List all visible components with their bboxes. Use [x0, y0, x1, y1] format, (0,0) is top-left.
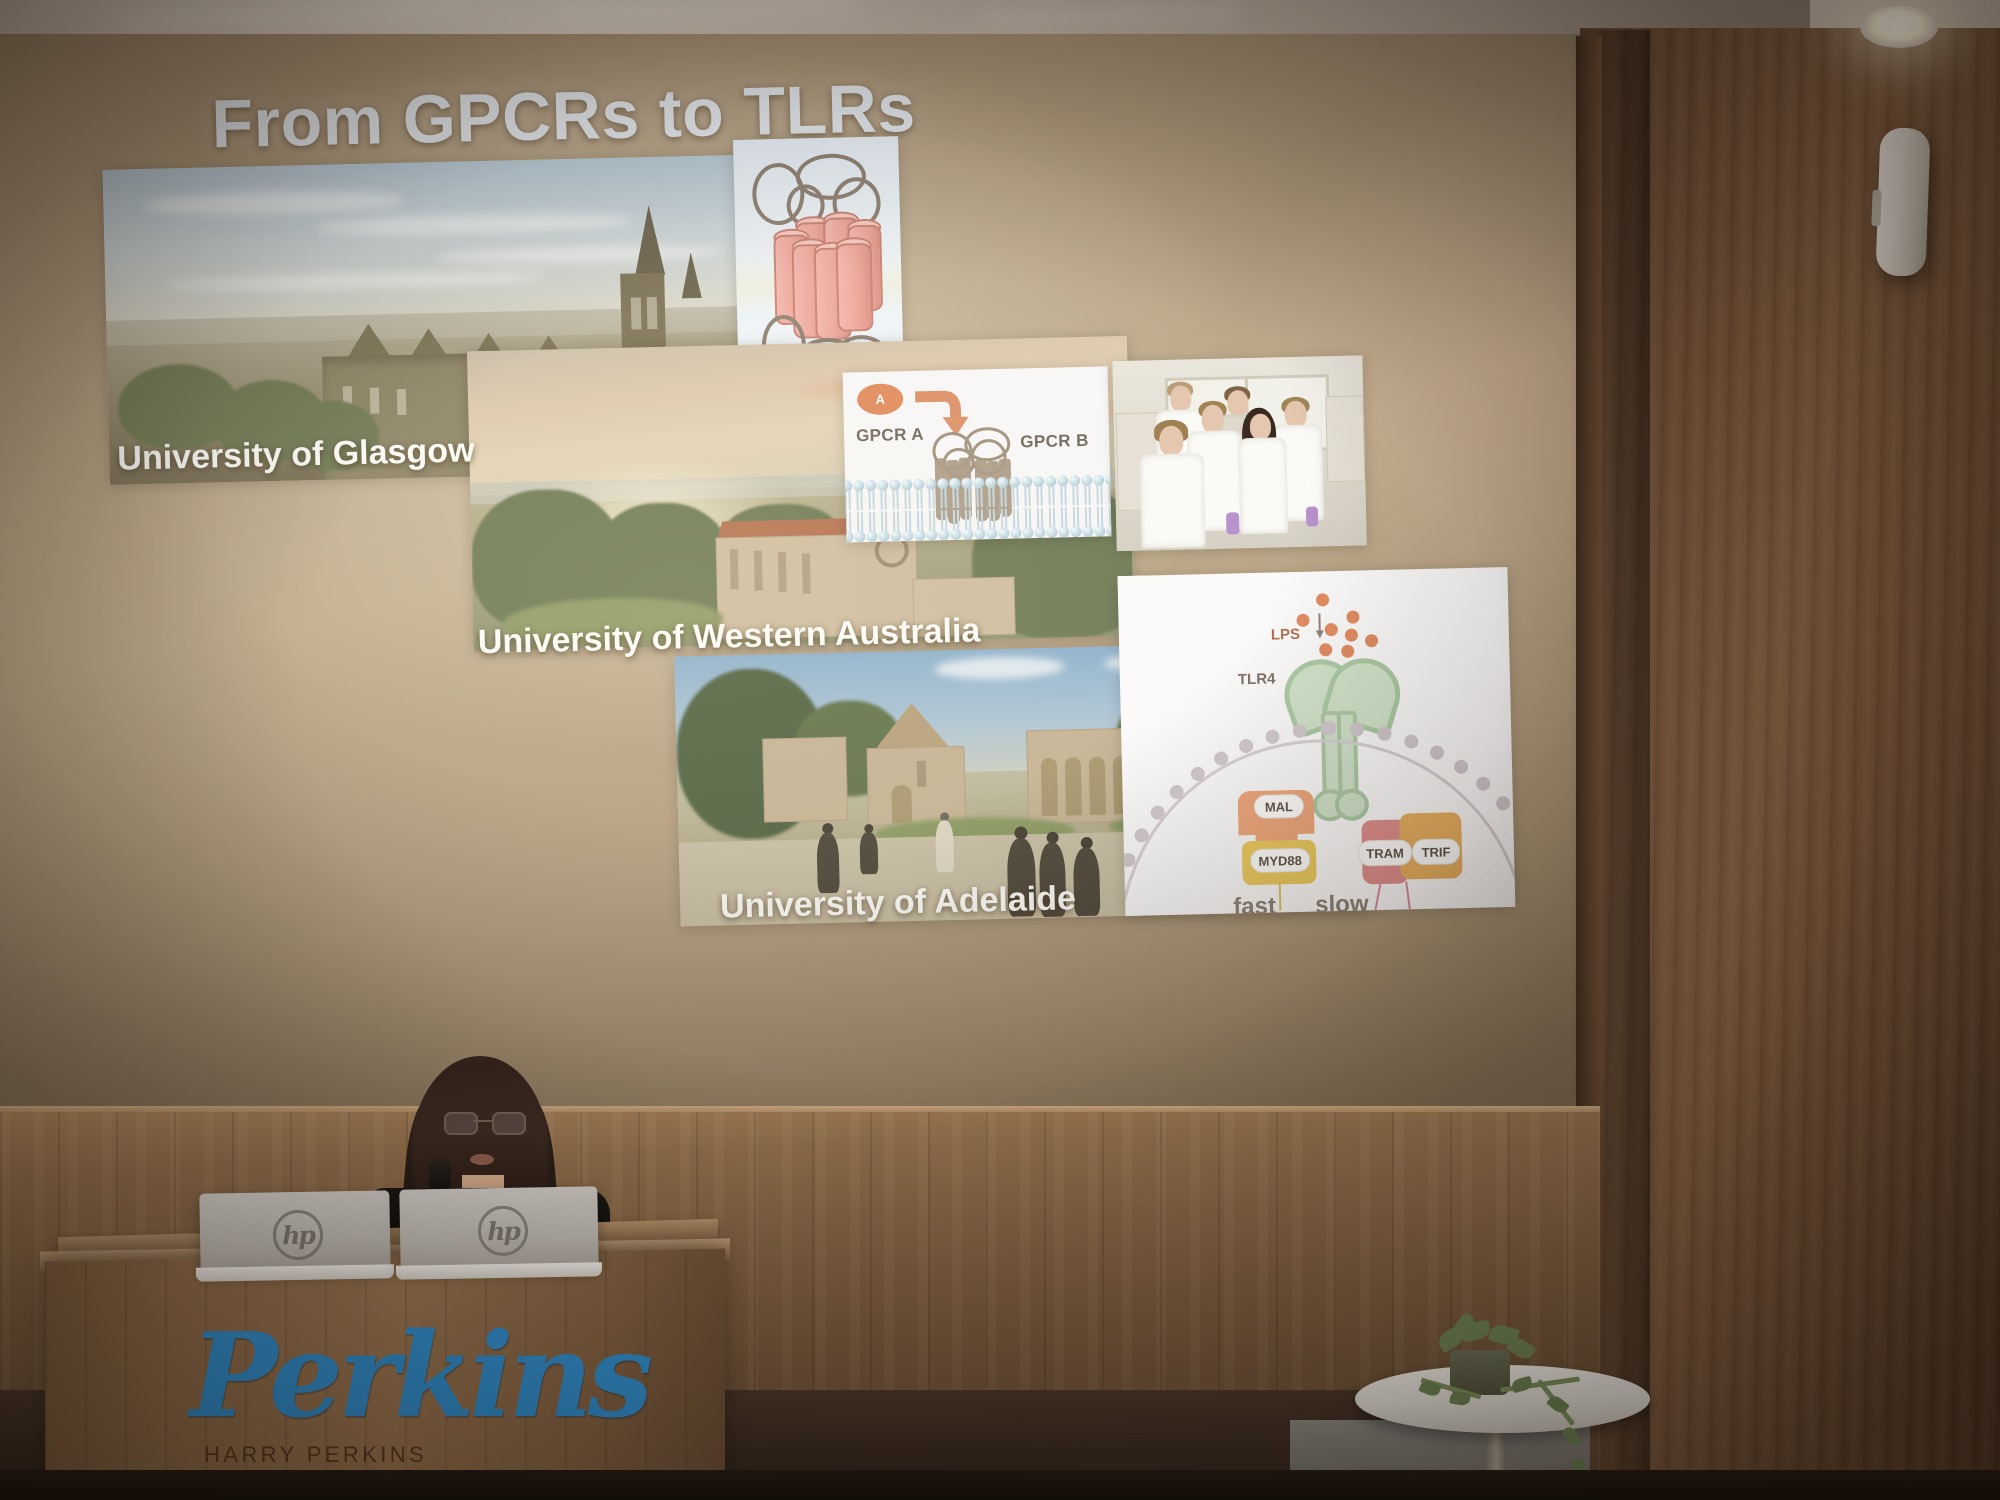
lipid-head — [1022, 527, 1033, 538]
lipid-tail — [896, 489, 898, 509]
lipid-tail — [1037, 508, 1039, 528]
lipid-tail — [944, 488, 946, 508]
student — [859, 832, 878, 874]
lipid-head — [1034, 527, 1045, 538]
lipid-tail — [1089, 507, 1091, 527]
lipid-tail — [933, 510, 935, 530]
lipid-tail — [977, 509, 979, 529]
purple-glove — [1226, 512, 1240, 534]
lipid-tail — [872, 490, 874, 510]
lipid-tail — [920, 489, 922, 509]
lipid-tail — [981, 509, 983, 529]
lps-molecule — [1345, 629, 1358, 642]
lipid-bilayer — [845, 474, 1111, 542]
lipid-tail — [941, 510, 943, 530]
lab-shelving — [1325, 395, 1365, 482]
lipid-tail — [969, 510, 971, 530]
student — [935, 820, 954, 872]
lipid-tail — [1084, 485, 1086, 505]
lipid-head — [866, 531, 877, 542]
lipid-head — [985, 477, 996, 488]
glasgow-spire — [634, 205, 666, 276]
lipid-tail — [921, 511, 923, 531]
lipid-head — [974, 528, 985, 539]
lipid-tail — [845, 491, 847, 511]
lipid-tail — [1040, 486, 1042, 506]
lipid-tail — [1000, 487, 1002, 507]
lipid-head — [925, 478, 936, 489]
lipid-tail — [953, 510, 955, 530]
lipid-head — [949, 478, 960, 489]
lipid-tail — [893, 511, 895, 531]
lipid-tail — [1016, 486, 1018, 506]
face — [1159, 426, 1184, 457]
gpcr-a-label: GPCR A — [856, 425, 924, 447]
tram-label: TRAM — [1358, 839, 1413, 866]
gpcr-heteromer-diagram: A GPCR A GPCR B — [843, 366, 1112, 542]
lipid-tail — [904, 489, 906, 509]
lipid-tail — [861, 512, 863, 532]
lipid-head — [937, 478, 948, 489]
lps-molecule — [1316, 593, 1329, 606]
hp-logo-icon: hp — [478, 1205, 529, 1256]
myd88-label: MYD88 — [1250, 848, 1311, 873]
lipid-tail — [880, 490, 882, 510]
lipid-tail — [932, 488, 934, 508]
lipid-tail — [1100, 485, 1102, 505]
lipid-tail — [1049, 508, 1051, 528]
face — [1201, 405, 1224, 434]
lab-coat — [1238, 437, 1288, 534]
lipid-head — [845, 531, 853, 542]
lipid-head — [1021, 476, 1032, 487]
lipid-tail — [940, 488, 942, 508]
lipid-head — [1010, 527, 1021, 538]
lipid-tail — [849, 512, 851, 532]
lipid-tail — [1072, 485, 1074, 505]
lipid-tail — [1073, 507, 1075, 527]
arcade-arch — [1065, 757, 1082, 815]
face — [1250, 414, 1272, 440]
chapel-doorway — [891, 785, 912, 823]
lipid-tail — [992, 487, 994, 507]
lipid-tail — [1029, 508, 1031, 528]
face — [1170, 385, 1192, 411]
lipid-tail — [968, 488, 970, 508]
trif-label: TRIF — [1412, 838, 1461, 865]
lipid-tail — [909, 511, 911, 531]
fast-label: fast — [1233, 893, 1276, 917]
chapel-gable — [875, 702, 948, 748]
lipid-head — [854, 531, 865, 542]
lipid-tail — [845, 513, 847, 533]
tower-window — [647, 297, 658, 329]
lipid-tail — [1001, 509, 1003, 529]
lipid-tail — [976, 487, 978, 507]
presentation-room-photo: From GPCRs to TLRs — [0, 0, 2000, 1500]
lipid-head — [1045, 476, 1056, 487]
lipid-tail — [856, 490, 858, 510]
hall-window — [917, 761, 927, 787]
lipid-head — [926, 529, 937, 540]
purple-glove — [1306, 506, 1318, 526]
slow-label: slow — [1315, 890, 1369, 916]
lipid-tail — [1041, 508, 1043, 528]
lipid-tail — [952, 488, 954, 508]
hall-window — [778, 552, 787, 592]
lipid-head — [950, 529, 961, 540]
lipid-head — [890, 530, 901, 541]
lipid-tail — [897, 511, 899, 531]
lipid-head — [1009, 476, 1020, 487]
lipid-tail — [873, 512, 875, 532]
lipid-tail — [993, 509, 995, 529]
lipid-head — [1070, 526, 1081, 537]
ligand-a-ellipse: A — [857, 383, 904, 415]
student — [1073, 848, 1101, 917]
tower-window — [631, 297, 642, 329]
lipid-head — [878, 531, 889, 542]
lipid-head — [1082, 526, 1093, 537]
lipid-tail — [868, 490, 870, 510]
lipid-tail — [1064, 485, 1066, 505]
glasses-lens-right — [492, 1112, 526, 1135]
lipid-tail — [1025, 508, 1027, 528]
bonython-hall — [762, 737, 848, 823]
lipid-tail — [916, 489, 918, 509]
lipid-head — [998, 528, 1009, 539]
caption-university-of-adelaide: University of Adelaide — [720, 879, 1077, 926]
lps-molecule — [1365, 634, 1378, 647]
lipid-head — [986, 528, 997, 539]
lipid-tail — [1097, 507, 1099, 527]
lipid-tail — [1096, 485, 1098, 505]
lipid-tail — [1005, 509, 1007, 529]
lipid-tail — [1017, 508, 1019, 528]
lipid-tail — [892, 489, 894, 509]
laptop-right[interactable]: hp — [399, 1186, 598, 1271]
lipid-tail — [989, 509, 991, 529]
lipid-tail — [1053, 508, 1055, 528]
lipid-head — [1106, 525, 1111, 536]
lipid-tail — [1004, 487, 1006, 507]
glasses-bridge — [473, 1120, 493, 1122]
glasses-lens-left — [444, 1112, 478, 1135]
lipid-tail — [965, 510, 967, 530]
lab-coat — [1140, 453, 1206, 548]
lipid-tail — [1077, 507, 1079, 527]
lipid-tail — [1036, 486, 1038, 506]
speaker-mount-bracket — [1871, 190, 1881, 226]
lipid-tail — [857, 512, 859, 532]
photo-lab-group — [1112, 355, 1366, 551]
lipid-tail — [956, 488, 958, 508]
lipid-head — [913, 479, 924, 490]
lipid-tail — [905, 511, 907, 531]
lipid-head — [865, 480, 876, 491]
lipid-tail — [917, 511, 919, 531]
lipid-tail — [980, 487, 982, 507]
speaker-mouth — [470, 1154, 494, 1165]
lipid-tail — [1061, 507, 1063, 527]
lipid-head — [961, 478, 972, 489]
lipid-head — [1058, 526, 1069, 537]
glasgow-spire-small — [681, 252, 702, 298]
lipid-tail — [1028, 486, 1030, 506]
lipid-head — [1033, 476, 1044, 487]
building-window — [397, 389, 407, 415]
arcade-arch — [1041, 758, 1058, 816]
hp-logo-icon: hp — [273, 1210, 324, 1261]
arcade-arch — [1089, 757, 1106, 815]
lipid-tail — [1013, 509, 1015, 529]
lipid-head — [938, 529, 949, 540]
lipid-tail — [860, 490, 862, 510]
lipid-head — [962, 529, 973, 540]
lipid-head — [973, 477, 984, 488]
lipid-tail — [1012, 487, 1014, 507]
mal-label: MAL — [1254, 794, 1305, 819]
tlr4-signalling-diagram: LPS TLR4 MAL MYD88 TRAM TRIF — [1117, 567, 1515, 916]
lipid-tail — [1076, 485, 1078, 505]
lipid-head — [901, 479, 912, 490]
lipid-tail — [945, 510, 947, 530]
transmembrane-helix — [836, 243, 874, 332]
lipid-head — [1046, 527, 1057, 538]
lipid-head — [877, 480, 888, 491]
lipid-tail — [1052, 486, 1054, 506]
lps-molecule — [1341, 645, 1354, 658]
perkins-wordmark: Perkins — [190, 1308, 648, 1444]
projected-slide: From GPCRs to TLRs — [100, 20, 1803, 1069]
foreground-shadow — [0, 1470, 2000, 1500]
elder-hall — [866, 746, 966, 826]
lipid-tail — [884, 490, 886, 510]
wall-loudspeaker — [1875, 127, 1930, 277]
microphone-capsule — [429, 1158, 451, 1192]
ceiling-downlight — [1860, 6, 1938, 48]
lps-label: LPS — [1271, 626, 1301, 644]
lipid-tail — [988, 487, 990, 507]
hall-window — [730, 549, 739, 589]
lipid-tail — [869, 512, 871, 532]
lipid-head — [889, 479, 900, 490]
lipid-tail — [885, 512, 887, 532]
lipid-tail — [1088, 485, 1090, 505]
lps-molecule — [1346, 610, 1359, 623]
lipid-tail — [1060, 485, 1062, 505]
hall-window — [802, 553, 811, 593]
lipid-head — [1069, 475, 1080, 486]
lipid-head — [1094, 525, 1105, 536]
lipid-head — [902, 530, 913, 541]
lipid-tail — [1085, 507, 1087, 527]
speaker-glasses — [443, 1112, 523, 1132]
lps-molecule — [1325, 623, 1338, 636]
lipid-tail — [928, 489, 930, 509]
roof-gable — [346, 323, 391, 358]
lipid-tail — [1101, 506, 1103, 526]
lipid-head — [1057, 475, 1068, 486]
lipid-tail — [1024, 486, 1026, 506]
building-window — [370, 388, 380, 414]
lipid-tail — [881, 512, 883, 532]
lipid-tail — [1065, 507, 1067, 527]
face — [1227, 390, 1249, 416]
lipid-tail — [1048, 486, 1050, 506]
lipid-tail — [957, 510, 959, 530]
lipid-head — [914, 530, 925, 541]
hall-window — [754, 551, 763, 591]
lipid-head — [853, 480, 864, 491]
lipid-head — [997, 477, 1008, 488]
laptop-left[interactable]: hp — [199, 1190, 390, 1273]
lipid-tail — [929, 511, 931, 531]
lipid-head — [1081, 475, 1092, 486]
lipid-head — [1093, 474, 1104, 485]
tlr4-label: TLR4 — [1238, 670, 1276, 688]
lipid-tail — [908, 489, 910, 509]
lipid-tail — [848, 490, 850, 510]
lps-molecule — [1319, 643, 1332, 656]
lipid-tail — [964, 488, 966, 508]
lps-arrow-icon — [1314, 613, 1325, 639]
ligand-a-label: A — [875, 392, 885, 407]
gpcr-b-label: GPCR B — [1020, 431, 1089, 453]
